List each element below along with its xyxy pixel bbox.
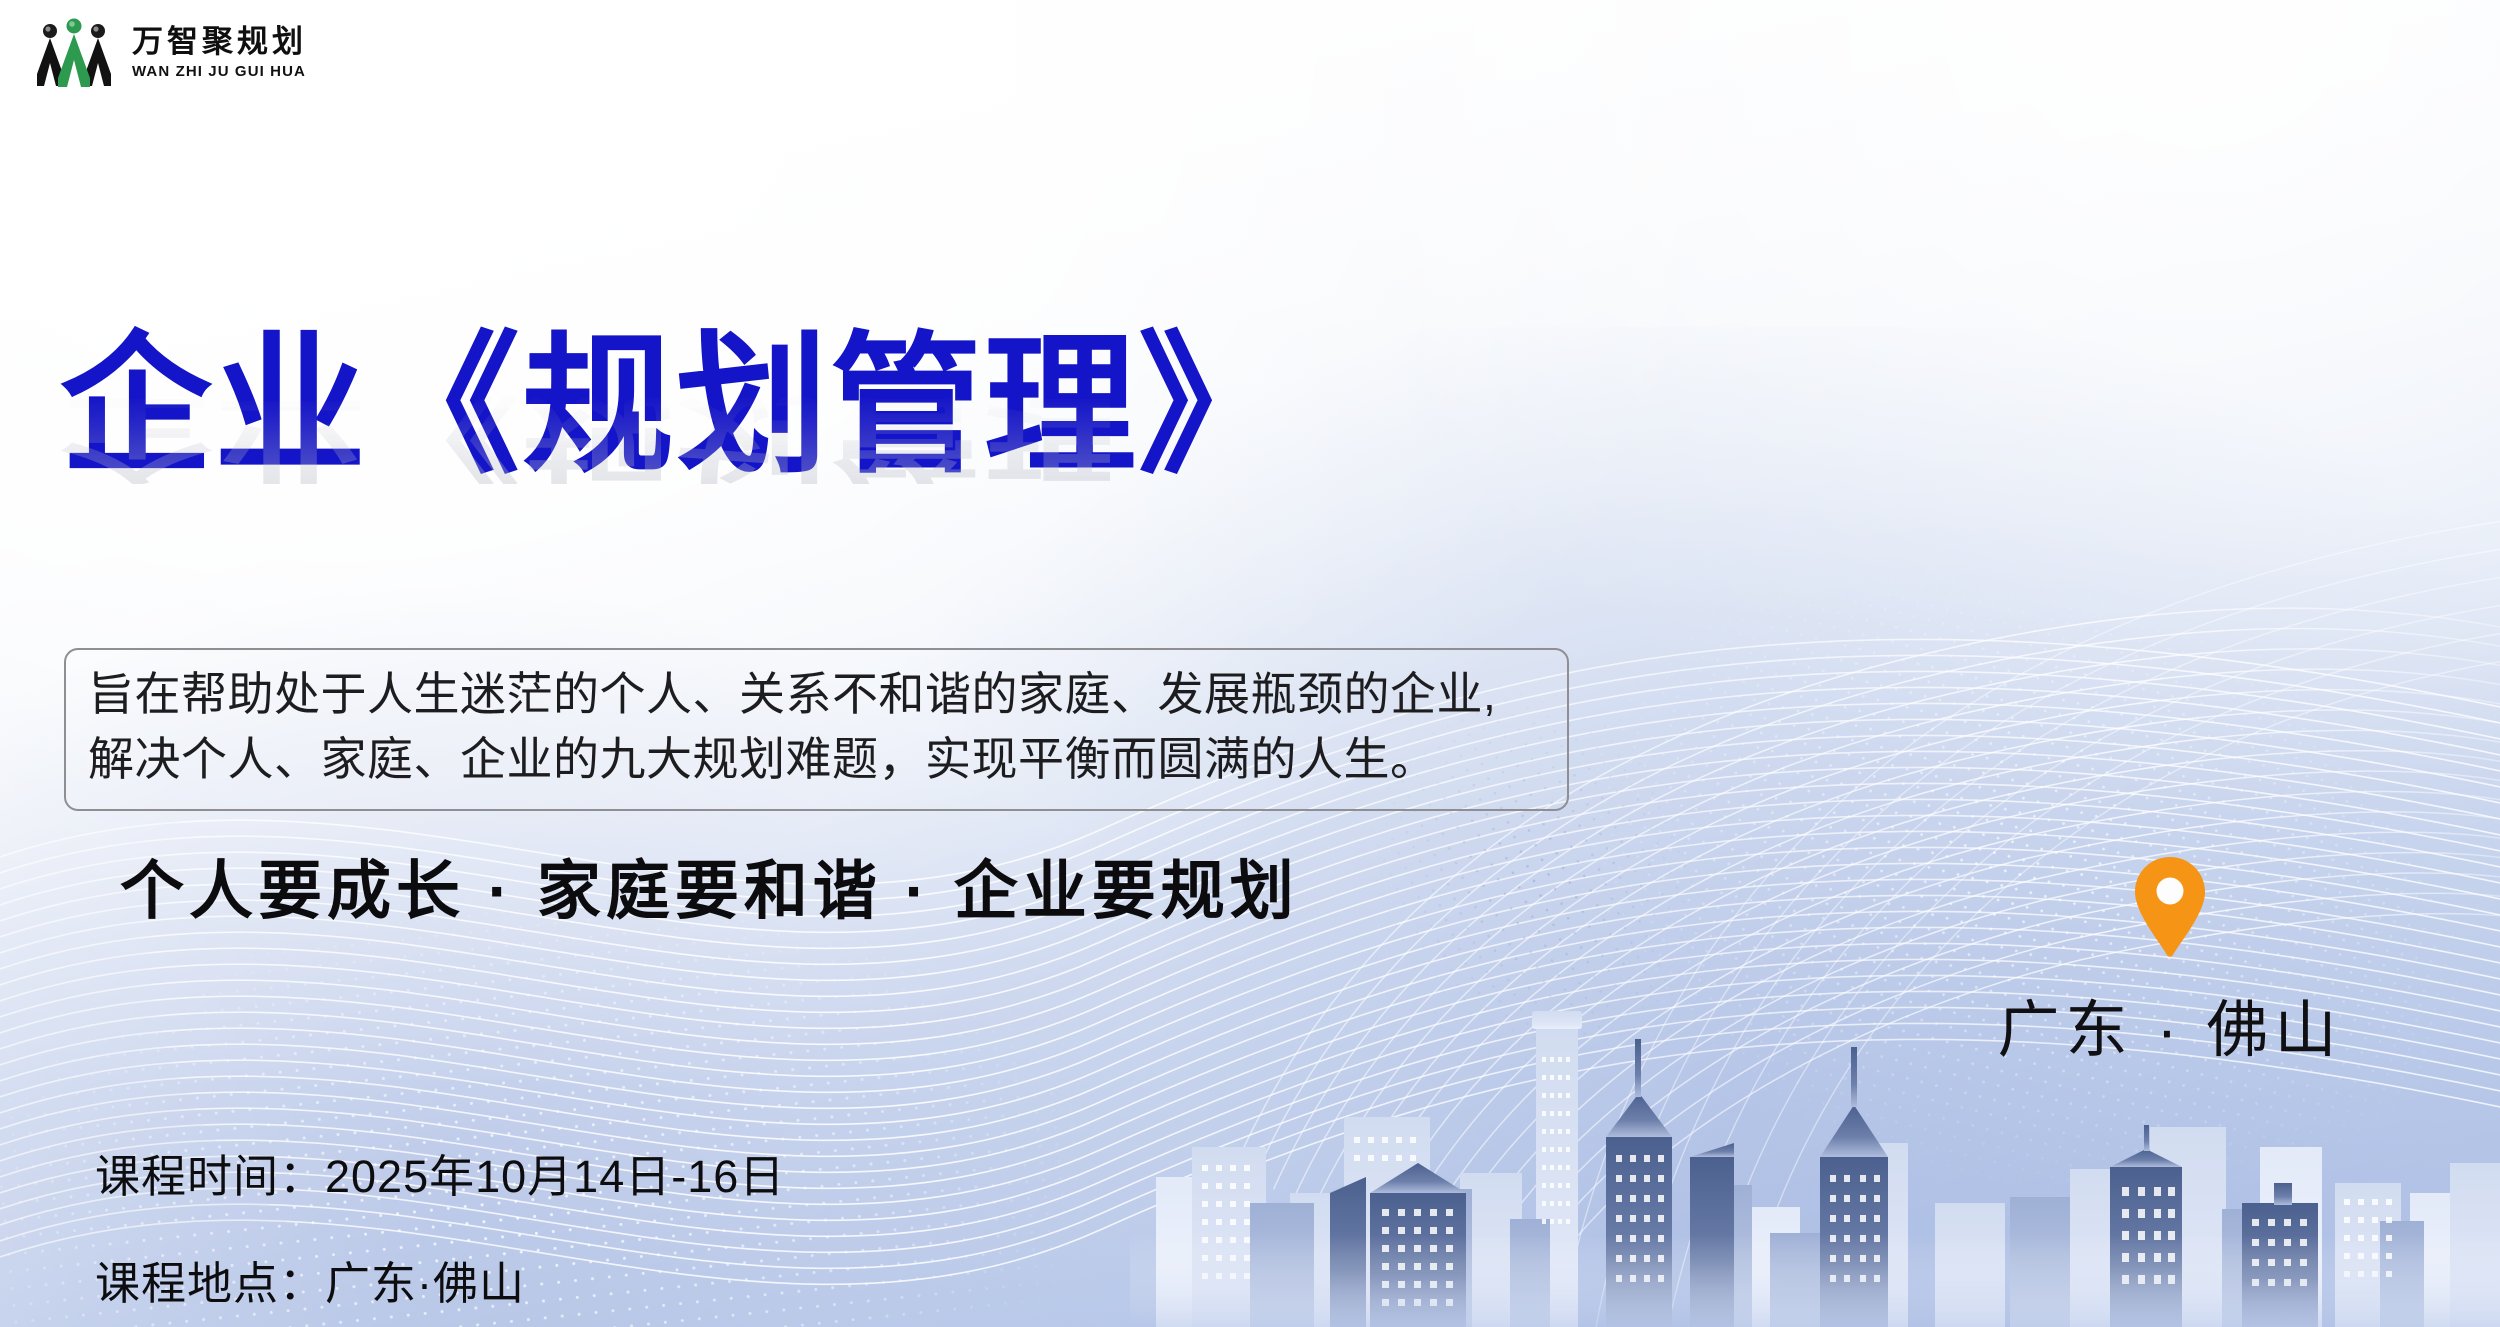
description-box: 旨在帮助处于人生迷茫的个人、关系不和谐的家庭、发展瓶颈的企业, 解决个人、家庭、… bbox=[64, 648, 1569, 811]
page-title-reflection: 企业《规划管理》 bbox=[60, 390, 1110, 484]
description-line-2: 解决个人、家庭、企业的九大规划难题，实现平衡而圆满的人生。 bbox=[88, 727, 1545, 792]
description-line-1: 旨在帮助处于人生迷茫的个人、关系不和谐的家庭、发展瓶颈的企业, bbox=[88, 662, 1545, 727]
brand-name-cn: 万智聚规划 bbox=[132, 26, 307, 57]
course-info: 课程时间：2025年10月14日-16日 课程地点：广东·佛山 bbox=[95, 1140, 785, 1312]
poster-canvas: 万智聚规划 WAN ZHI JU GUI HUA 企业《规划管理》 企业《规划管… bbox=[0, 0, 2500, 1327]
map-pin-icon bbox=[2131, 855, 2209, 959]
location-city-label: 广东 · 佛山 bbox=[1960, 979, 2380, 1069]
tagline: 个人要成长 · 家庭要和谐 · 企业要规划 bbox=[120, 840, 1299, 932]
hero-title-group: 企业《规划管理》 企业《规划管理》 bbox=[60, 330, 1110, 636]
three-people-logo-icon bbox=[30, 16, 118, 88]
location-block: 广东 · 佛山 bbox=[1960, 855, 2380, 1069]
course-place-row: 课程地点：广东·佛山 bbox=[95, 1247, 785, 1312]
brand-wordmark: 万智聚规划 WAN ZHI JU GUI HUA bbox=[132, 26, 307, 79]
course-time-row: 课程时间：2025年10月14日-16日 bbox=[95, 1140, 785, 1205]
brand-name-en: WAN ZHI JU GUI HUA bbox=[132, 64, 307, 79]
brand-logo[interactable]: 万智聚规划 WAN ZHI JU GUI HUA bbox=[30, 16, 307, 88]
